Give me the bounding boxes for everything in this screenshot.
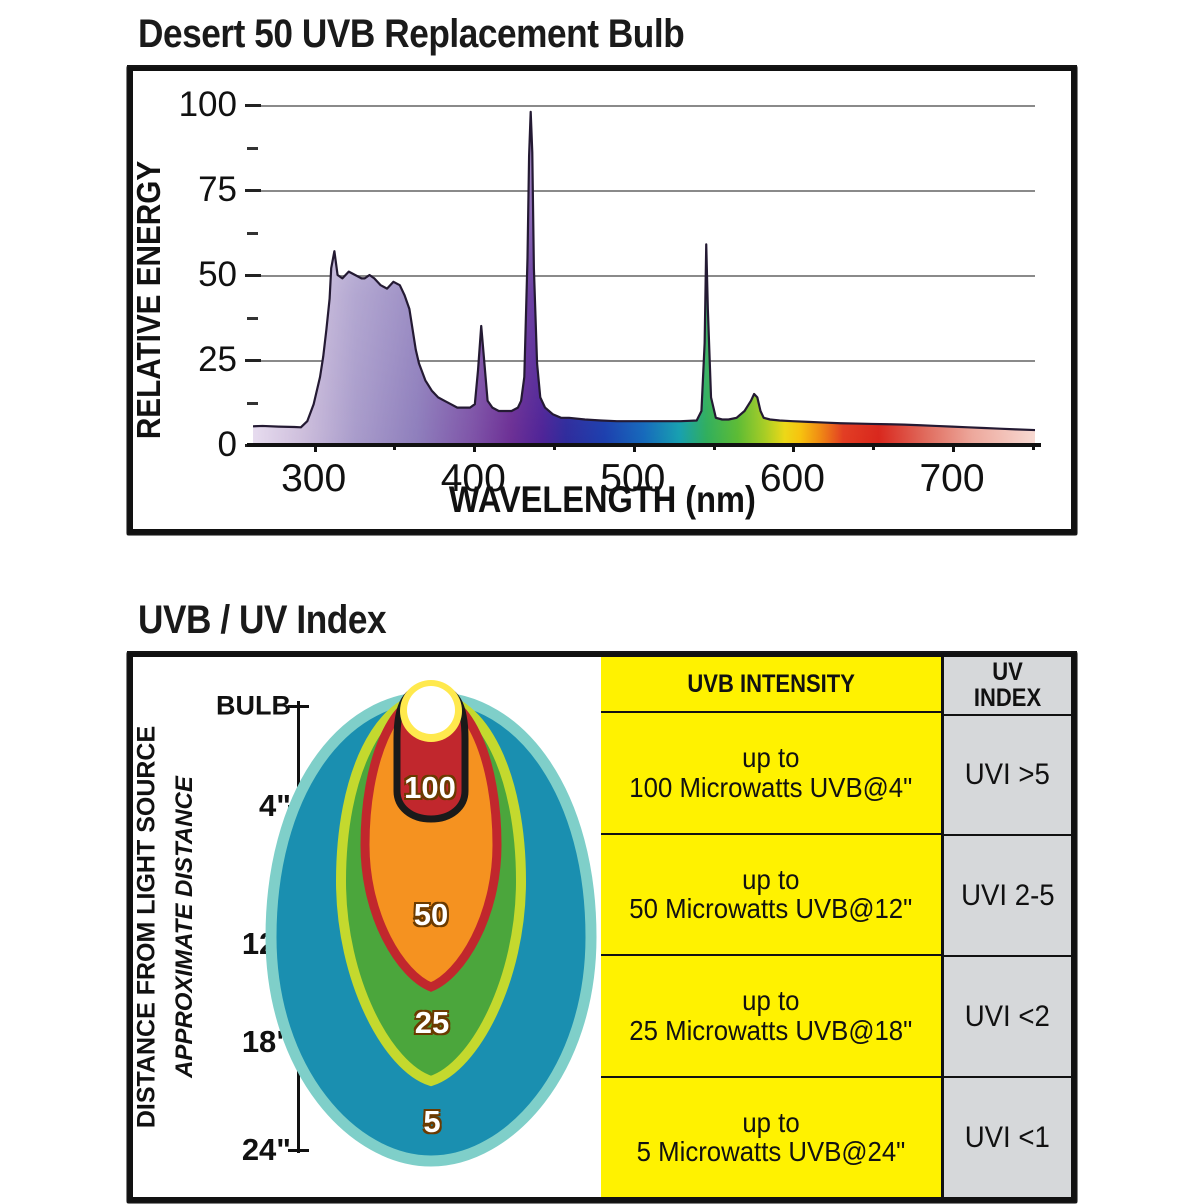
intensity-line-2: 5 Microwatts UVB@24" <box>637 1137 906 1166</box>
x-axis-label: WAVELENGTH (nm) <box>133 479 1071 521</box>
table-row-uv-index: UVI 2-5 <box>941 836 1071 957</box>
table-row-intensity: up to50 Microwatts UVB@12" <box>601 835 941 957</box>
distance-axis-subtitle: APPROXIMATE DISTANCE <box>171 776 199 1078</box>
x-axis-line <box>247 443 1041 447</box>
intensity-line-1: up to <box>630 865 913 894</box>
intensity-line-1: up to <box>630 743 913 772</box>
table-row-intensity: up to100 Microwatts UVB@4" <box>601 713 941 835</box>
table-row-intensity: up to25 Microwatts UVB@18" <box>601 956 941 1078</box>
intensity-line-1: up to <box>637 1108 906 1137</box>
y-tick-label: 0 <box>157 425 237 465</box>
uv-index-text: UVI <1 <box>965 1122 1050 1154</box>
intensity-text: up to50 Microwatts UVB@12" <box>630 865 913 924</box>
intensity-line-1: up to <box>630 986 913 1015</box>
distance-axis-title: DISTANCE FROM LIGHT SOURCE <box>133 726 162 1128</box>
intensity-line-2: 50 Microwatts UVB@12" <box>630 894 913 923</box>
header-uv-index: UV INDEX <box>941 657 1071 716</box>
uvb-panel-title: UVB / UV Index <box>138 598 386 643</box>
page-title: Desert 50 UVB Replacement Bulb <box>138 12 684 57</box>
y-tick-label: 100 <box>157 85 237 125</box>
column-uv-index: UV INDEX UVI >5UVI 2-5UVI <2UVI <1 <box>941 657 1071 1197</box>
table-row-uv-index: UVI >5 <box>941 716 1071 837</box>
uvb-cone-diagram: DISTANCE FROM LIGHT SOURCE APPROXIMATE D… <box>133 657 601 1197</box>
uv-index-text: UVI 2-5 <box>961 880 1055 912</box>
y-tick-label: 25 <box>157 340 237 380</box>
intensity-text: up to5 Microwatts UVB@24" <box>637 1108 906 1167</box>
y-tick-label: 75 <box>157 170 237 210</box>
uvb-cone-graphic <box>261 679 601 1179</box>
header-uvb-intensity-text: UVB INTENSITY <box>687 671 854 697</box>
column-uvb-intensity: UVB INTENSITY up to100 Microwatts UVB@4"… <box>601 657 941 1197</box>
table-row-uv-index: UVI <2 <box>941 957 1071 1078</box>
spectrum-chart-panel: RELATIVE ENERGY 0255075100 3004005006007… <box>128 66 1076 534</box>
uvb-uvindex-panel: DISTANCE FROM LIGHT SOURCE APPROXIMATE D… <box>128 652 1076 1202</box>
spectrum-plot-area: 0255075100 300400500600700 <box>253 105 1035 445</box>
uv-index-text: UVI >5 <box>965 759 1050 791</box>
intensity-line-2: 100 Microwatts UVB@4" <box>630 773 913 802</box>
y-tick-label: 50 <box>157 255 237 295</box>
table-row-intensity: up to5 Microwatts UVB@24" <box>601 1078 941 1198</box>
header-uv-index-text: UV INDEX <box>957 659 1058 712</box>
uvb-intensity-table: UVB INTENSITY up to100 Microwatts UVB@4"… <box>601 657 1071 1197</box>
intensity-text: up to25 Microwatts UVB@18" <box>630 986 913 1045</box>
intensity-line-2: 25 Microwatts UVB@18" <box>630 1016 913 1045</box>
spectrum-curve <box>253 105 1035 445</box>
bulb-glow-inner <box>407 686 455 734</box>
x-axis-label-text: WAVELENGTH (nm) <box>449 479 756 521</box>
table-row-uv-index: UVI <1 <box>941 1078 1071 1197</box>
header-uvb-intensity: UVB INTENSITY <box>601 657 941 713</box>
uv-index-text: UVI <2 <box>965 1001 1050 1033</box>
intensity-text: up to100 Microwatts UVB@4" <box>630 743 913 802</box>
